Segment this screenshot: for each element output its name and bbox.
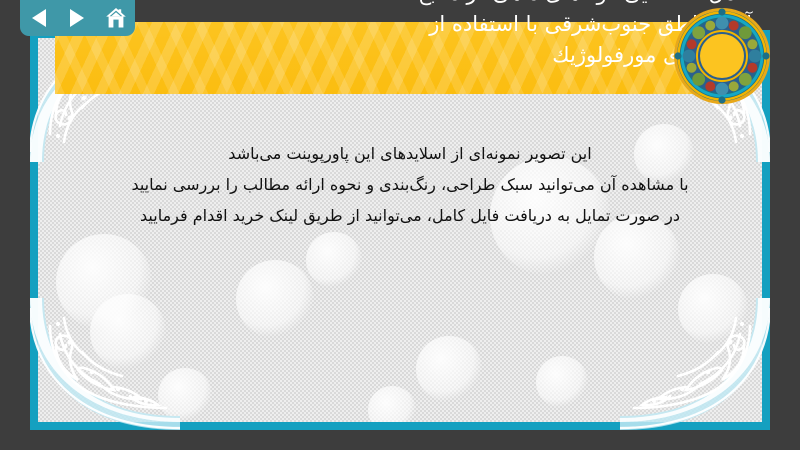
previous-slide-button[interactable] (24, 3, 54, 33)
bokeh-circle (56, 234, 152, 330)
bokeh-circle (536, 356, 588, 408)
bokeh-circle (678, 274, 748, 344)
bokeh-circle (594, 214, 680, 300)
title-banner (55, 22, 735, 94)
slide-viewer: این تصویر نمونه‌ای از اسلایدهای این پاور… (0, 0, 800, 450)
home-button[interactable] (101, 3, 131, 33)
bokeh-circle (490, 156, 610, 276)
bokeh-circle (90, 294, 166, 370)
next-slide-button[interactable] (62, 3, 92, 33)
bokeh-circle (634, 124, 694, 184)
bokeh-circle (158, 368, 212, 422)
home-icon (104, 7, 128, 29)
next-arrow-icon (70, 9, 84, 27)
previous-arrow-icon (32, 9, 46, 27)
bokeh-circle (368, 386, 416, 422)
bokeh-circle (306, 232, 362, 288)
bokeh-circle (416, 336, 482, 402)
title-line-1: کامل شناسایی گونه‌های ماهی در منابع (419, 0, 752, 9)
navigation-bar (20, 0, 135, 36)
slide-panel (38, 38, 762, 422)
bokeh-circle (236, 260, 314, 338)
